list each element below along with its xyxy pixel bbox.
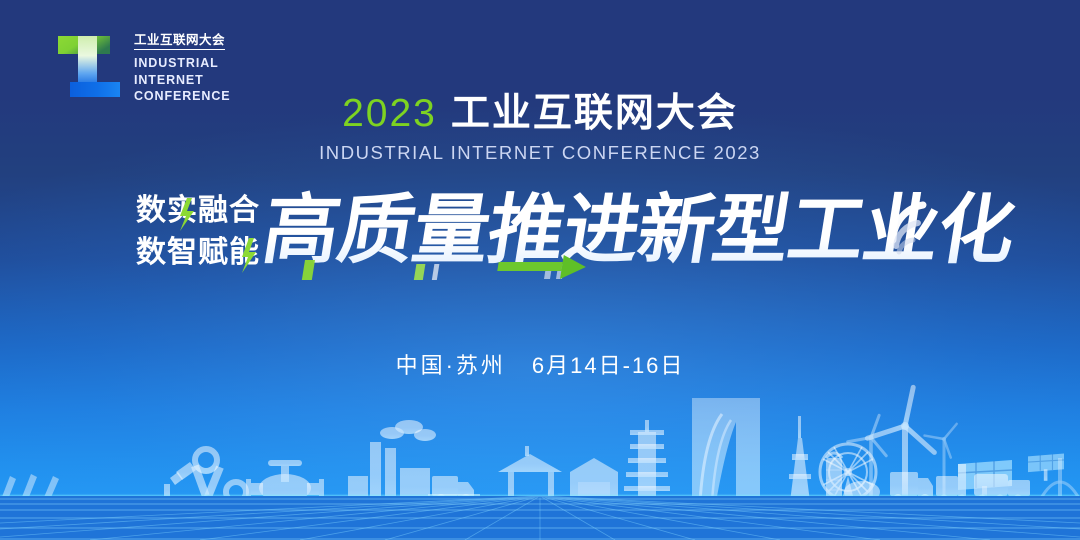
background-glow	[0, 107, 1080, 540]
freight-trucks	[890, 464, 967, 504]
storage-tanks	[818, 453, 880, 503]
conference-title: 2023工业互联网大会	[0, 93, 1080, 135]
gate-of-the-orient	[692, 398, 760, 502]
conference-slogan: 数实融合 数智赋能 高质量推进新型工业化	[0, 178, 1080, 288]
suspension-bridge	[1036, 458, 1080, 500]
industrial-valve	[246, 460, 324, 502]
train	[966, 474, 1038, 504]
slogan-left-line-1: 数实融合	[136, 193, 260, 227]
solar-panels	[958, 453, 1064, 502]
horizon-line	[0, 498, 1080, 500]
perspective-grid-floor	[0, 496, 1080, 540]
factory-smokestacks	[348, 420, 436, 502]
chinese-pavilion	[498, 446, 562, 502]
grid-floor-artwork	[0, 496, 1080, 540]
slogan-artwork: 数实融合 数智赋能 高质量推进新型工业化	[0, 178, 1080, 288]
wind-turbines	[846, 384, 959, 502]
exhibition-hall	[570, 458, 618, 502]
robot-arm	[164, 449, 254, 504]
event-date-location: 中国·苏州6月14日-16日	[0, 348, 1080, 380]
conference-title-cn: 工业互联网大会	[451, 92, 738, 135]
event-location: 中国·苏州	[396, 353, 506, 378]
event-dates: 6月14日-16日	[532, 353, 685, 378]
conference-title-en: INDUSTRIAL INTERNET CONFERENCE 2023	[0, 142, 1080, 164]
tv-tower	[784, 416, 816, 503]
logo-cn-name: 工业互联网大会	[134, 34, 225, 50]
city-industry-skyline	[0, 380, 1080, 540]
slogan-left-lines: 数实融合 数智赋能	[136, 193, 260, 273]
conference-year: 2023	[342, 92, 437, 135]
slogan-left-line-2: 数智赋能	[136, 236, 260, 269]
logo-en-line-1: INDUSTRIAL	[134, 55, 231, 72]
oil-pumpjacks	[0, 474, 64, 502]
conference-title-block: 2023工业互联网大会 INDUSTRIAL INTERNET CONFEREN…	[0, 93, 1080, 164]
industrial-internet-conference-logo-mark	[56, 32, 122, 102]
logo-cn-name-wrap: 工业互联网大会	[134, 32, 231, 50]
skyline-artwork	[0, 380, 1080, 540]
ferris-wheel	[820, 444, 876, 502]
conference-banner: 工业互联网大会 INDUSTRIAL INTERNET CONFERENCE 2…	[0, 0, 1080, 540]
logo-en-line-2: INTERNET	[134, 72, 231, 89]
horizon-glow-band	[0, 494, 1080, 502]
suzhou-pagoda	[624, 420, 670, 502]
delivery-truck	[428, 476, 480, 504]
